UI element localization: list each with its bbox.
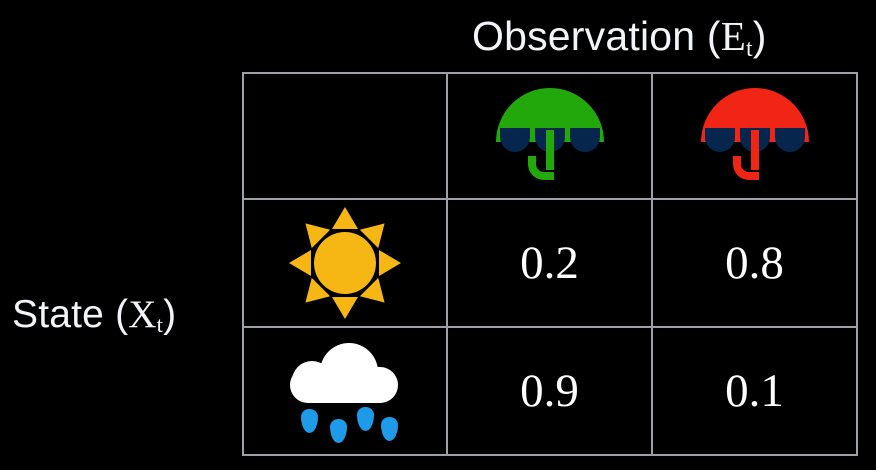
umbrella-red-icon [701,88,809,184]
observation-variable: Et [721,13,753,59]
umbrella-scallop [705,128,735,152]
sensor-model-table: 0.2 0.8 0.9 0.1 [242,72,858,456]
umbrella-red-icon-wrap [653,74,856,198]
raindrop-icon [330,419,347,443]
state-variable: Xt [128,293,163,336]
observation-axis-label: Observation (Et) [472,16,767,57]
sun-disc [314,232,376,294]
umbrella-green-icon-wrap [448,74,651,198]
umbrella-scallop [570,128,600,152]
state-variable-letter: X [128,293,156,336]
state-variable-subscript: t [157,312,163,337]
observation-label-close: ) [753,13,767,59]
raindrop-icon [301,409,318,433]
sun-ray [289,250,311,276]
table-row: 0.2 0.8 [243,199,857,327]
observation-label-text: Observation ( [472,13,721,59]
prob-cell-rain-red: 0.1 [652,327,857,455]
rain-cloud-icon [284,339,406,443]
raindrop-icon [381,417,398,441]
umbrella-scallop [775,128,805,152]
cloud-bump [292,361,332,401]
row-header-sun [243,199,447,327]
state-label-text: State ( [12,293,128,336]
state-axis-label: State (Xt) [12,295,176,334]
state-label-close: ) [163,293,176,336]
observation-variable-letter: E [721,13,746,59]
prob-cell-sun-green: 0.2 [447,199,652,327]
sun-ray [379,250,401,276]
raindrop-icon [357,407,374,431]
prob-cell-rain-green: 0.9 [447,327,652,455]
corner-cell [243,73,447,199]
rain-cloud-icon-wrap [244,328,446,454]
sun-ray [332,297,358,319]
row-header-rain [243,327,447,455]
prob-cell-sun-red: 0.8 [652,199,857,327]
sun-ray [332,207,358,229]
umbrella-scallop [500,128,530,152]
sun-icon-wrap [244,200,446,326]
table-row: 0.9 0.1 [243,327,857,455]
header-cell-umbrella-green [447,73,652,199]
header-cell-umbrella-red [652,73,857,199]
umbrella-hook [528,156,554,180]
umbrella-green-icon [496,88,604,184]
sun-icon [289,207,401,319]
observation-variable-subscript: t [746,36,753,62]
umbrella-hook [733,156,759,180]
table-header-row [243,73,857,199]
